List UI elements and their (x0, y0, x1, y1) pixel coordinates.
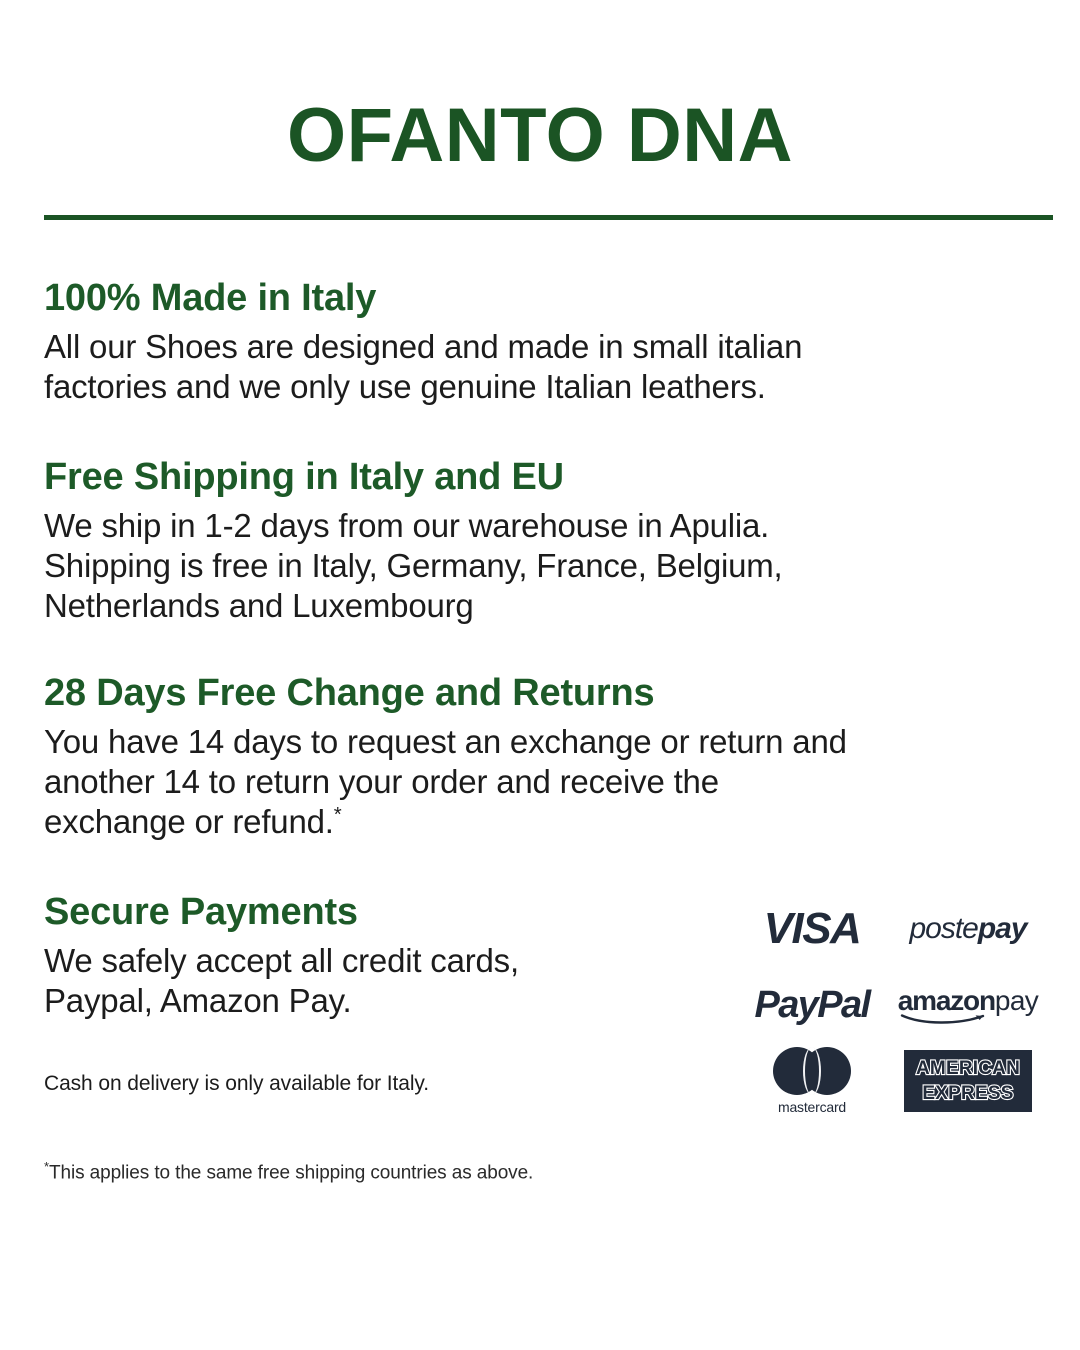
amazon-word: amazon (898, 985, 995, 1016)
visa-logo-cell: VISA (744, 898, 880, 960)
footnote-text: This applies to the same free shipping c… (49, 1163, 533, 1184)
body-line: You have 14 days to request an exchange … (44, 722, 1036, 762)
amex-line-american: AMERICAN (916, 1059, 1020, 1078)
secure-payments-text: Secure Payments We safely accept all cre… (44, 890, 519, 1097)
payment-methods-logos: VISA postepay PayPal amazonpay (744, 898, 1036, 1112)
section-body-free-shipping: We ship in 1-2 days from our warehouse i… (44, 506, 1036, 627)
cash-on-delivery-note: Cash on delivery is only available for I… (44, 1070, 519, 1097)
section-heading-free-change-returns: 28 Days Free Change and Returns (44, 671, 1036, 716)
page-header: OFANTO DNA (0, 0, 1080, 220)
body-line: Paypal, Amazon Pay. (44, 981, 519, 1021)
section-body-free-change-returns: You have 14 days to request an exchange … (44, 722, 1036, 843)
mastercard-circle-overlap (803, 1047, 821, 1095)
body-line: All our Shoes are designed and made in s… (44, 327, 1036, 367)
amex-line-express: EXPRESS (922, 1084, 1013, 1103)
amazon-pay-logo-cell: amazonpay (900, 974, 1036, 1036)
mastercard-circles (773, 1047, 851, 1095)
section-free-shipping: Free Shipping in Italy and EU We ship in… (44, 455, 1036, 627)
postepay-logo-cell: postepay (900, 898, 1036, 960)
section-secure-payments: Secure Payments We safely accept all cre… (44, 890, 1036, 1186)
mastercard-icon: mastercard (773, 1047, 851, 1115)
paypal-icon: PayPal (754, 984, 869, 1027)
body-line: We safely accept all credit cards, (44, 941, 519, 981)
section-heading-secure-payments: Secure Payments (44, 890, 519, 935)
shipping-countries-footnote: *This applies to the same free shipping … (44, 1159, 1036, 1186)
mastercard-logo-cell: mastercard (744, 1050, 880, 1112)
body-line: exchange or refund.* (44, 802, 1036, 842)
body-line: Shipping is free in Italy, Germany, Fran… (44, 546, 1036, 586)
mastercard-wordmark: mastercard (778, 1099, 846, 1115)
visa-icon: VISA (764, 904, 861, 954)
title-divider (44, 215, 1053, 220)
section-body-secure-payments: We safely accept all credit cards, Paypa… (44, 941, 519, 1022)
amazon-smile-arrow-icon (900, 1013, 988, 1024)
postepay-icon: postepay (909, 912, 1026, 946)
amazon-pay-icon: amazonpay (898, 987, 1038, 1024)
section-body-made-in-italy: All our Shoes are designed and made in s… (44, 327, 1036, 408)
pay-word: pay (995, 985, 1038, 1016)
body-line: factories and we only use genuine Italia… (44, 367, 1036, 407)
content-area: 100% Made in Italy All our Shoes are des… (0, 276, 1080, 1187)
secure-payments-row: Secure Payments We safely accept all cre… (44, 890, 1036, 1112)
section-heading-made-in-italy: 100% Made in Italy (44, 276, 1036, 321)
section-made-in-italy: 100% Made in Italy All our Shoes are des… (44, 276, 1036, 407)
section-free-change-returns: 28 Days Free Change and Returns You have… (44, 671, 1036, 843)
ofanto-dna-infographic: OFANTO DNA 100% Made in Italy All our Sh… (0, 0, 1080, 1350)
body-line: Netherlands and Luxembourg (44, 586, 1036, 626)
paypal-logo-cell: PayPal (744, 974, 880, 1036)
postepay-part-pay: pay (978, 912, 1027, 945)
american-express-logo-cell: AMERICAN EXPRESS (900, 1050, 1036, 1112)
body-line: another 14 to return your order and rece… (44, 762, 1036, 802)
postepay-part-poste: poste (909, 912, 977, 945)
body-line: We ship in 1-2 days from our warehouse i… (44, 506, 1036, 546)
section-heading-free-shipping: Free Shipping in Italy and EU (44, 455, 1036, 500)
body-line-text: exchange or refund. (44, 803, 334, 840)
page-title: OFANTO DNA (0, 96, 1080, 176)
asterisk-marker: * (334, 803, 342, 826)
american-express-icon: AMERICAN EXPRESS (904, 1050, 1032, 1112)
